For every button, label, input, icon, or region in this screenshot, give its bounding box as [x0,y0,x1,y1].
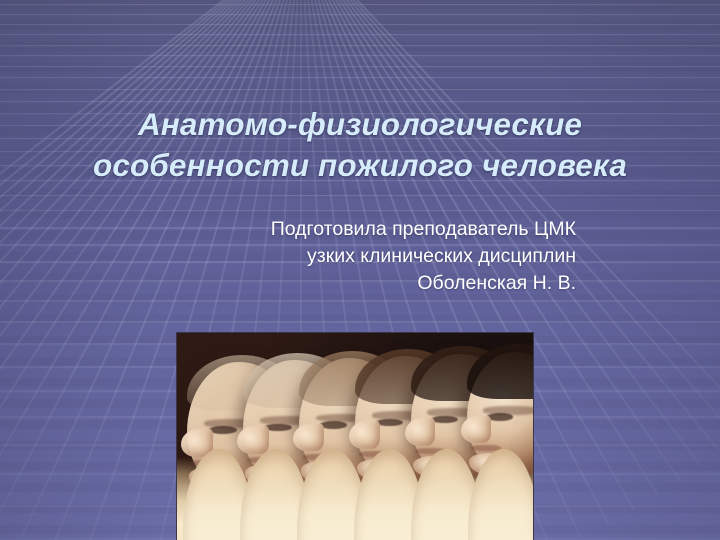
face-nose-6 [461,416,491,443]
subtitle-line-3: Оболенская Н. В. [271,270,576,297]
face-eye-3 [320,421,347,429]
face-nose-5 [405,418,436,445]
face-nose-2 [237,426,269,454]
face-nose-4 [349,421,380,449]
title-line-1: Анатомо-физиологические [26,104,694,145]
face-eye-6 [487,413,513,420]
face-nose-3 [293,424,325,452]
face-eye-5 [431,416,458,423]
slide-title: Анатомо-физиологические особенности пожи… [26,104,694,186]
slide-canvas: Анатомо-физиологические особенности пожи… [0,0,720,540]
slide-subtitle: Подготовила преподаватель ЦМК узких клин… [271,216,576,297]
title-line-2: особенности пожилого человека [26,145,694,186]
subtitle-line-2: узких клинических дисциплин [271,243,576,270]
aging-faces-image [177,333,533,540]
subtitle-line-1: Подготовила преподаватель ЦМК [271,216,576,243]
